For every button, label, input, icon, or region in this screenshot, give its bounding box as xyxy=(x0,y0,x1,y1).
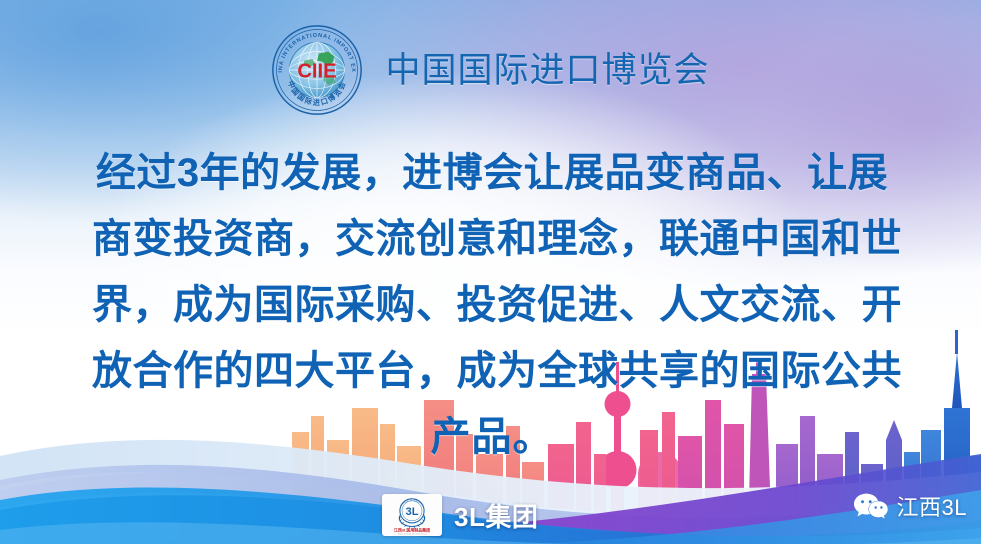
svg-text:Jiangxi 3L Medical Products Gr: Jiangxi 3L Medical Products Group xyxy=(398,533,427,535)
footer-wechat[interactable]: 江西3L xyxy=(854,490,967,522)
poster-canvas: CIIE CHINA INTERNATIONAL IMPORT EXPO 中国国… xyxy=(0,0,981,544)
brand-logo-mark: 3L xyxy=(405,506,418,518)
brand-logo-card: 3L JIANGXI 3L MEDICAL 江西3L医用制品集团 Jiangxi… xyxy=(382,494,442,536)
page-title: 中国国际进口博览会 xyxy=(385,53,709,88)
wechat-account-name: 江西3L xyxy=(897,490,967,522)
statement-line: 放合作的四大平台，成为全球共享的国际公共 xyxy=(92,338,892,404)
3l-group-emblem-icon: 3L JIANGXI 3L MEDICAL 江西3L医用制品集团 Jiangxi… xyxy=(384,495,440,535)
statement-line: 产品。 xyxy=(92,404,892,470)
footer-brand: 3L JIANGXI 3L MEDICAL 江西3L医用制品集团 Jiangxi… xyxy=(382,494,538,536)
statement-line: 商变投资商，交流创意和理念，联通中国和世 xyxy=(92,206,892,272)
header: CIIE CHINA INTERNATIONAL IMPORT EXPO 中国国… xyxy=(0,22,981,118)
brand-logo-caption: 江西3L医用制品集团 xyxy=(394,527,430,532)
main-statement: 经过3年的发展，进博会让展品变商品、让展 商变投资商，交流创意和理念，联通中国和… xyxy=(92,140,892,470)
statement-line: 界，成为国际采购、投资促进、人文交流、开 xyxy=(92,272,892,338)
statement-line: 经过3年的发展，进博会让展品变商品、让展 xyxy=(92,140,892,206)
wechat-icon xyxy=(854,492,888,520)
brand-name: 3L集团 xyxy=(454,497,538,534)
ciie-acronym: CIIE xyxy=(298,60,337,82)
ciie-globe-logo-icon: CIIE CHINA INTERNATIONAL IMPORT EXPO 中国国… xyxy=(271,24,363,116)
